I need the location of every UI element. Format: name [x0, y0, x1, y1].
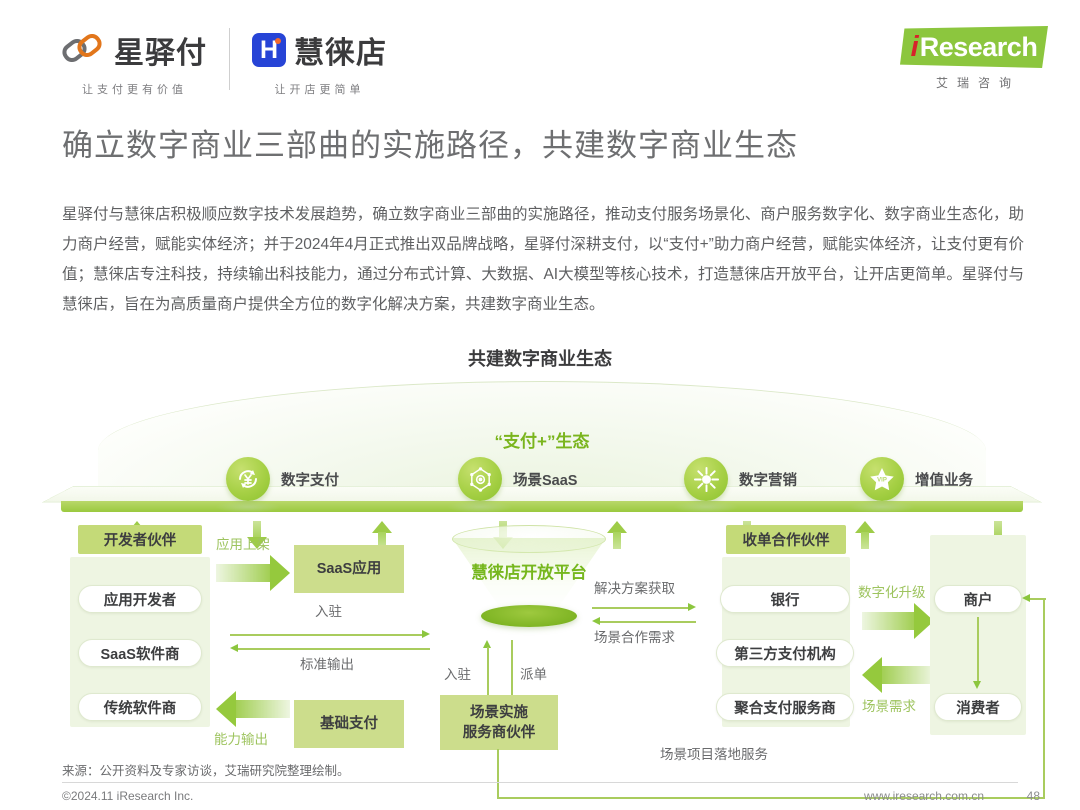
arrow-scene-coop-demand [592, 617, 696, 626]
arrow-settle-in-left [230, 630, 430, 639]
yen-recycle-icon [226, 457, 270, 501]
page-title: 确立数字商业三部曲的实施路径，共建数字商业生态 [62, 120, 798, 165]
box-scene-partner[interactable]: 场景实施 服务商伙伴 [440, 695, 558, 750]
left-panel-item-0[interactable]: 应用开发者 [78, 585, 202, 613]
left-panel-item-2[interactable]: 传统软件商 [78, 693, 202, 721]
eco-label-0: 数字支付 [281, 469, 339, 490]
right-panel-item-2[interactable]: 聚合支付服务商 [716, 693, 854, 721]
right-panel-item-1[interactable]: 第三方支付机构 [716, 639, 854, 667]
burst-star-icon [684, 457, 728, 501]
box-basic-payment[interactable]: 基础支付 [294, 700, 404, 748]
source-note: 来源：公开资料及专家访谈，艾瑞研究院整理绘制。 [62, 760, 350, 779]
svg-text:VIP: VIP [877, 478, 887, 484]
eco-label-3: 增值业务 [915, 469, 973, 490]
atom-network-icon [458, 457, 502, 501]
flow-label-digital-upgrade: 数字化升级 [858, 581, 926, 601]
arrow-standard-output [230, 644, 430, 653]
arrow-merchant-to-consumer [973, 617, 982, 689]
elbow-seg-vertical-left [497, 749, 499, 799]
flow-label-settle-in-center: 入驻 [444, 663, 471, 683]
eco-item-value-added[interactable]: VIP 增值业务 [860, 457, 973, 501]
website-url: www.iresearch.com.cn [864, 789, 984, 803]
flow-label-dispatch: 派单 [520, 663, 547, 683]
brand-huilaidian: H 慧徕店 让开店更简单 [252, 28, 387, 97]
iresearch-wordmark: Research [920, 34, 1038, 61]
arrow-solution-acquire [592, 603, 696, 612]
ecosystem-items: 数字支付 场景SaaS [58, 457, 1026, 519]
page-number: 48 [1027, 789, 1040, 803]
far-right-item-consumer[interactable]: 消费者 [934, 693, 1022, 721]
page-header: 星驿付 让支付更有价值 H 慧徕店 让开店更简单 i Research [0, 0, 1080, 110]
eco-label-2: 数字营销 [739, 469, 797, 490]
logo-block: 星驿付 让支付更有价值 H 慧徕店 让开店更简单 [62, 28, 387, 97]
arrow-to-merchant [1022, 594, 1046, 603]
iresearch-chinese-name: 艾瑞咨询 [900, 74, 1048, 91]
iresearch-badge: i Research [900, 26, 1048, 68]
vip-star-icon: VIP [860, 457, 904, 501]
iresearch-i: i [911, 33, 919, 62]
brand-b-tagline: 让开店更简单 [275, 81, 365, 97]
fat-arrow-scene-demand [862, 657, 934, 693]
huilaidian-logo-icon: H [252, 33, 286, 67]
orange-dot-icon [275, 38, 281, 44]
flow-label-scene-demand: 场景需求 [862, 695, 916, 715]
flow-label-scene-coop-demand: 场景合作需求 [594, 626, 675, 646]
footer-divider [62, 782, 1018, 783]
flow-label-solution-acquire: 解决方案获取 [594, 577, 675, 597]
iresearch-logo: i Research 艾瑞咨询 [900, 26, 1048, 91]
slide-page: 星驿付 让支付更有价值 H 慧徕店 让开店更简单 i Research [0, 0, 1080, 810]
flow-label-settle-in-left: 入驻 [315, 600, 342, 620]
arrow-up-4 [855, 521, 875, 549]
funnel-disc [481, 605, 577, 627]
elbow-seg-vertical-right [1043, 598, 1045, 798]
ecosystem-label: “支付+”生态 [58, 427, 1026, 452]
platform-slab: “支付+”生态 数字支付 [58, 381, 1026, 531]
far-right-item-merchant[interactable]: 商户 [934, 585, 1022, 613]
left-panel-header: 开发者伙伴 [78, 525, 202, 554]
brand-xingyifu: 星驿付 让支付更有价值 [62, 28, 207, 97]
left-panel-item-1[interactable]: SaaS软件商 [78, 639, 202, 667]
eco-item-digital-marketing[interactable]: 数字营销 [684, 457, 797, 501]
eco-label-1: 场景SaaS [513, 469, 577, 490]
brand-a-tagline: 让支付更有价值 [82, 81, 187, 97]
fat-arrow-app-listing [216, 555, 290, 591]
fat-arrow-digital-upgrade [862, 603, 934, 639]
copyright: ©2024.11 iResearch Inc. [62, 789, 193, 803]
right-panel-item-0[interactable]: 银行 [720, 585, 850, 613]
box-saas-app[interactable]: SaaS应用 [294, 545, 404, 593]
ecosystem-diagram: 共建数字商业生态 “支付+”生态 [0, 345, 1080, 760]
eco-item-scene-saas[interactable]: 场景SaaS [458, 457, 577, 501]
brand-a-name: 星驿付 [114, 28, 207, 72]
body-paragraph: 星驿付与慧徕店积极顺应数字技术发展趋势，确立数字商业三部曲的实施路径，推动支付服… [62, 200, 1024, 320]
logo-divider [229, 28, 230, 90]
diagram-title: 共建数字商业生态 [0, 345, 1080, 371]
brand-b-name: 慧徕店 [294, 28, 387, 72]
xingyifu-logo-icon [62, 34, 106, 66]
flow-label-capability-output: 能力输出 [214, 728, 268, 748]
right-panel-header: 收单合作伙伴 [726, 525, 846, 554]
fat-arrow-capability-output [216, 691, 290, 727]
flow-label-scene-landing: 场景项目落地服务 [660, 743, 768, 763]
box-scene-partner-text: 场景实施 服务商伙伴 [463, 703, 536, 743]
flow-label-standard-output: 标准输出 [300, 653, 354, 673]
eco-item-digital-payment[interactable]: 数字支付 [226, 457, 339, 501]
flow-label-app-listing: 应用上架 [216, 533, 270, 553]
